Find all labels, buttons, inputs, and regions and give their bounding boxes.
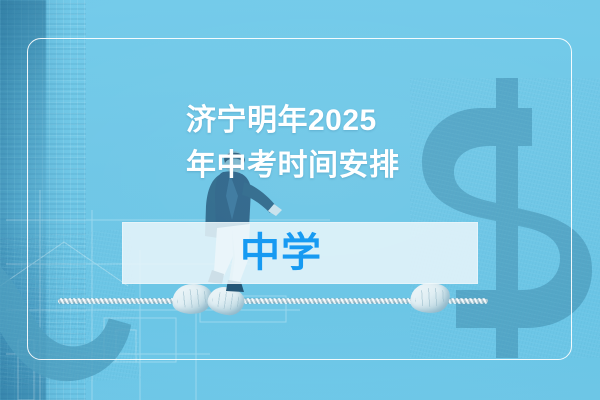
subtitle-band: 中学	[122, 222, 478, 284]
page-title: 济宁明年2025 年中考时间安排	[186, 98, 436, 188]
subtitle-label: 中学	[240, 233, 322, 273]
page-title-line-1: 济宁明年2025	[186, 98, 436, 143]
page-title-line-2: 年中考时间安排	[186, 143, 436, 188]
article-cover-banner: 济宁明年2025 年中考时间安排 中学	[0, 0, 600, 400]
dollar-sign-icon	[0, 229, 141, 394]
dollar-sign-icon	[410, 78, 600, 358]
